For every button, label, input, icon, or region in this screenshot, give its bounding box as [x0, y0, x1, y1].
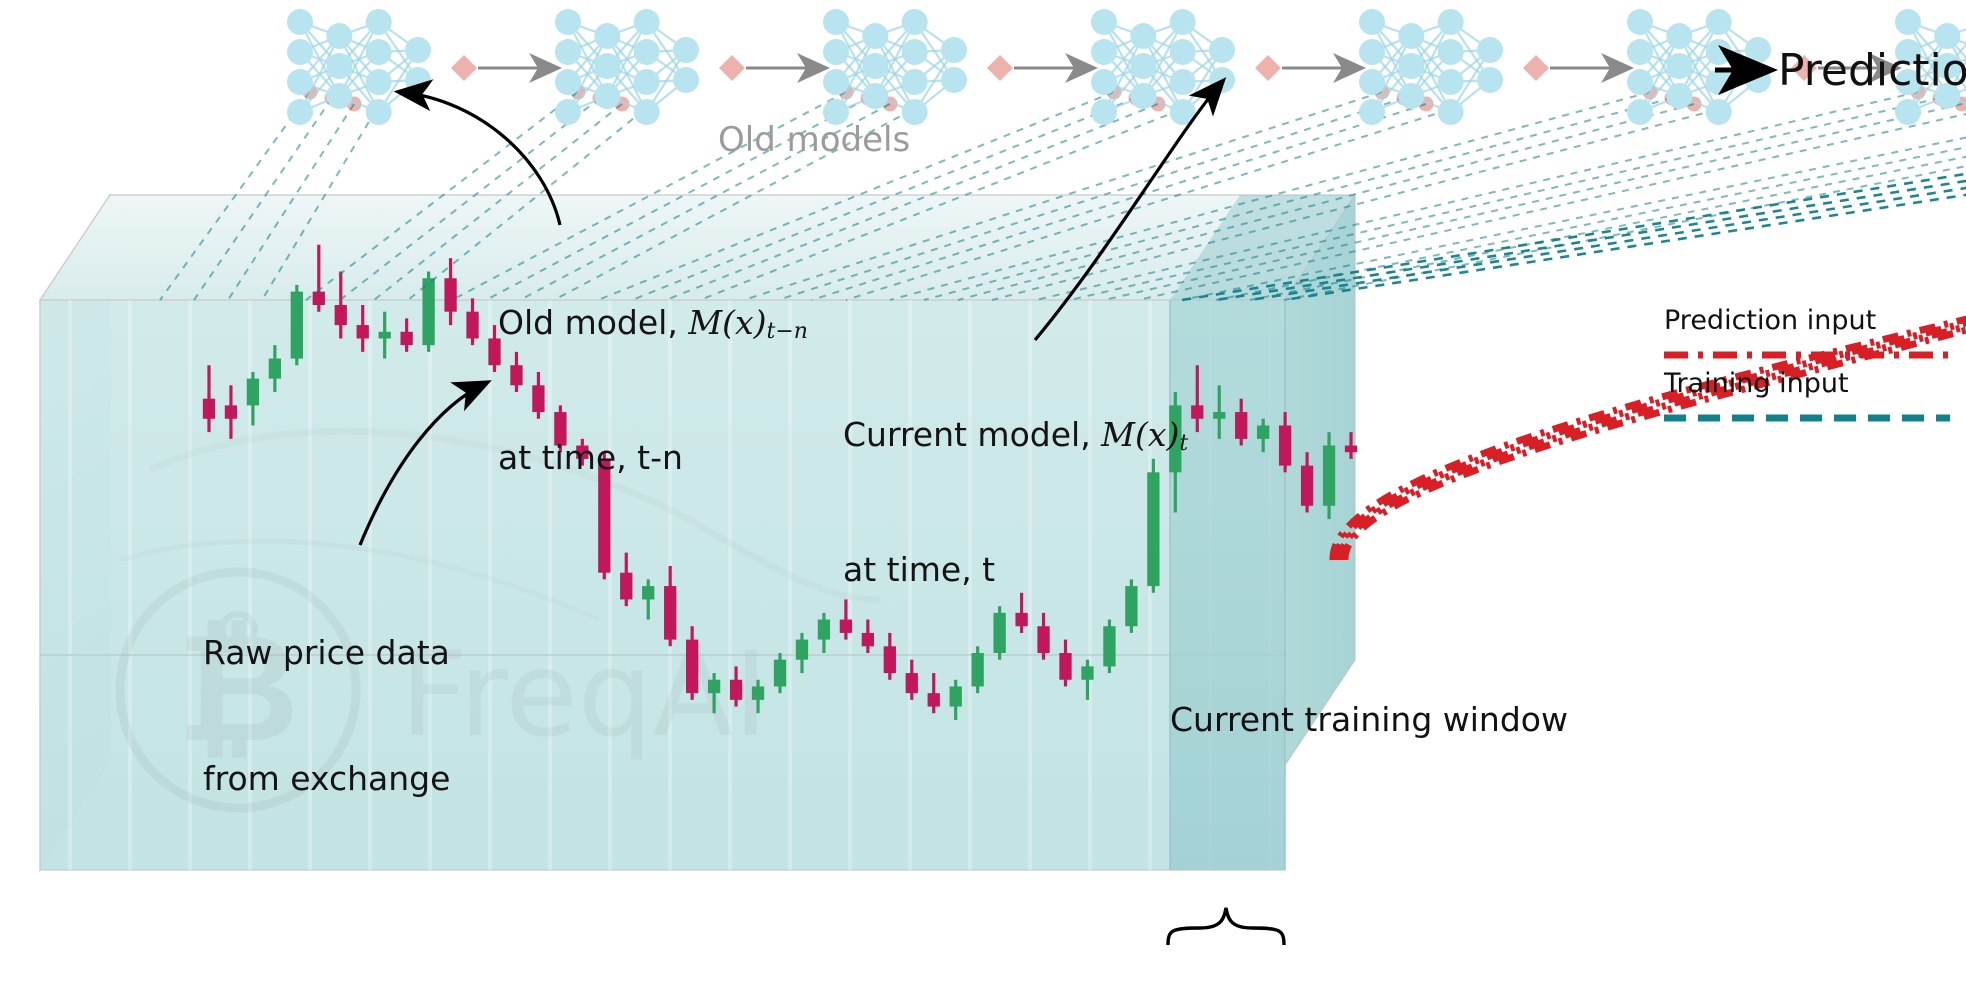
- current-model-annotation: Current model, M(x)t at time, t: [843, 330, 1188, 675]
- old-model-math-m: M: [688, 303, 722, 342]
- old-model-math-paren: (x): [722, 303, 766, 342]
- current-model-time-text: at time, t: [843, 549, 1188, 591]
- model-network-row: [287, 8, 1966, 126]
- current-model-math-subscript: t: [1179, 431, 1188, 456]
- old-model-text-pre: Old model,: [498, 303, 688, 342]
- raw-price-line-1: Raw price data: [203, 632, 450, 674]
- figure-canvas: ₿ FreqAI: [0, 0, 1966, 981]
- current-model-math-m: M: [1101, 415, 1135, 454]
- current-model-math-paren: (x): [1135, 415, 1179, 454]
- current-model-text-pre: Current model,: [843, 415, 1101, 454]
- raw-price-annotation: Raw price data from exchange: [203, 548, 450, 884]
- old-model-annotation: Old model, M(x)t−n at time, t-n: [498, 218, 808, 563]
- raw-price-line-2: from exchange: [203, 758, 450, 800]
- training-window-brace: [1168, 908, 1284, 945]
- prediction-label: Prediction: [1778, 45, 1966, 96]
- old-model-math-subscript: t−n: [767, 319, 808, 344]
- legend-label-training-input: Training input: [1664, 368, 1849, 399]
- old-model-time-text: at time, t-n: [498, 437, 808, 479]
- old-models-label: Old models: [718, 120, 910, 160]
- current-training-window-label: Current training window: [1170, 700, 1568, 739]
- legend-label-prediction-input: Prediction input: [1664, 305, 1876, 336]
